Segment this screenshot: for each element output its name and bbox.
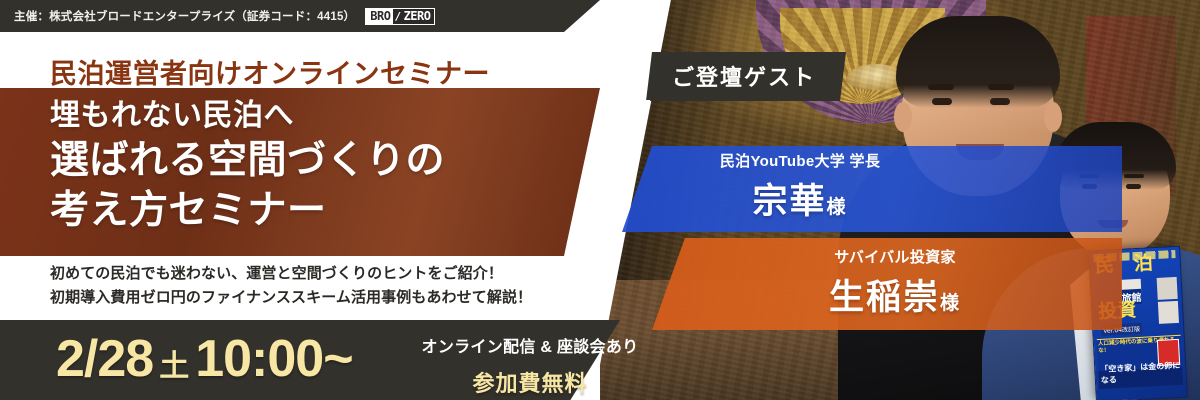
organizer-text: 主催：株式会社ブロードエンタープライズ（証券コード：4415） — [14, 8, 355, 24]
event-datetime: 2/28 土 10:00~ — [56, 330, 353, 396]
seminar-title: 埋もれない民泊へ 選ばれる空間づくりの 考え方セミナー — [50, 96, 590, 236]
guest-2-name-text: 生稲崇 — [829, 278, 940, 317]
guest-2-name: 生稲崇様 — [760, 269, 1030, 320]
description-line-2: 初期導入費用ゼロ円のファイナンススキーム活用事例もあわせて解説！ — [50, 286, 610, 310]
event-date: 2/28 — [56, 330, 153, 388]
guest-2-honorific: 様 — [940, 293, 961, 314]
book-title-top-right: 泊 — [1133, 254, 1153, 274]
event-time: 10:00~ — [195, 330, 352, 388]
event-day-of-week: 土 — [159, 338, 189, 396]
guest-2-info: サバイバル投資家 生稲崇様 — [760, 246, 1030, 320]
event-delivery-note: オンライン配信 & 座談会あり — [420, 333, 640, 357]
guest-1-honorific: 様 — [827, 197, 848, 218]
event-fee-note: 参加費無料 — [420, 366, 640, 398]
logo-separator: / — [393, 9, 401, 24]
guest-badge-label: ご登壇ゲスト — [646, 52, 846, 101]
title-line-2: 選ばれる空間づくりの — [50, 136, 590, 186]
description-line-1: 初めての民泊でも迷わない、運営と空間づくりのヒントをご紹介！ — [50, 262, 610, 286]
seminar-banner: 民 泊 旅館 投資 Ver.04改訂版 人口減少時代の波に乗り遅れるな！ 「空き… — [0, 0, 1200, 400]
guest-1-name-text: 宗華 — [752, 182, 826, 221]
seminar-description: 初めての民泊でも迷わない、運営と空間づくりのヒントをご紹介！ 初期導入費用ゼロ円… — [50, 262, 610, 310]
title-line-3: 考え方セミナー — [50, 186, 590, 236]
title-line-1: 埋もれない民泊へ — [50, 96, 590, 136]
book-footer-text: 「空き家」は金の卵になる — [1100, 360, 1186, 386]
guest-1-role: 民泊YouTube大学 学長 — [650, 150, 950, 171]
event-notes: オンライン配信 & 座談会あり 参加費無料 — [420, 333, 640, 398]
guest-1-name: 宗華様 — [650, 173, 950, 224]
brozero-logo: BRO / ZERO — [365, 8, 435, 25]
organizer-bar: 主催：株式会社ブロードエンタープライズ（証券コード：4415） BRO / ZE… — [0, 0, 600, 32]
left-content: 主催：株式会社ブロードエンタープライズ（証券コード：4415） BRO / ZE… — [0, 0, 620, 400]
logo-bro-text: BRO — [366, 9, 393, 24]
guest-2-role: サバイバル投資家 — [760, 246, 1030, 267]
seminar-subheadline: 民泊運営者向けオンラインセミナー — [50, 52, 490, 91]
logo-zero-text: ZERO — [402, 9, 435, 24]
guest-1-info: 民泊YouTube大学 学長 宗華様 — [650, 150, 950, 224]
